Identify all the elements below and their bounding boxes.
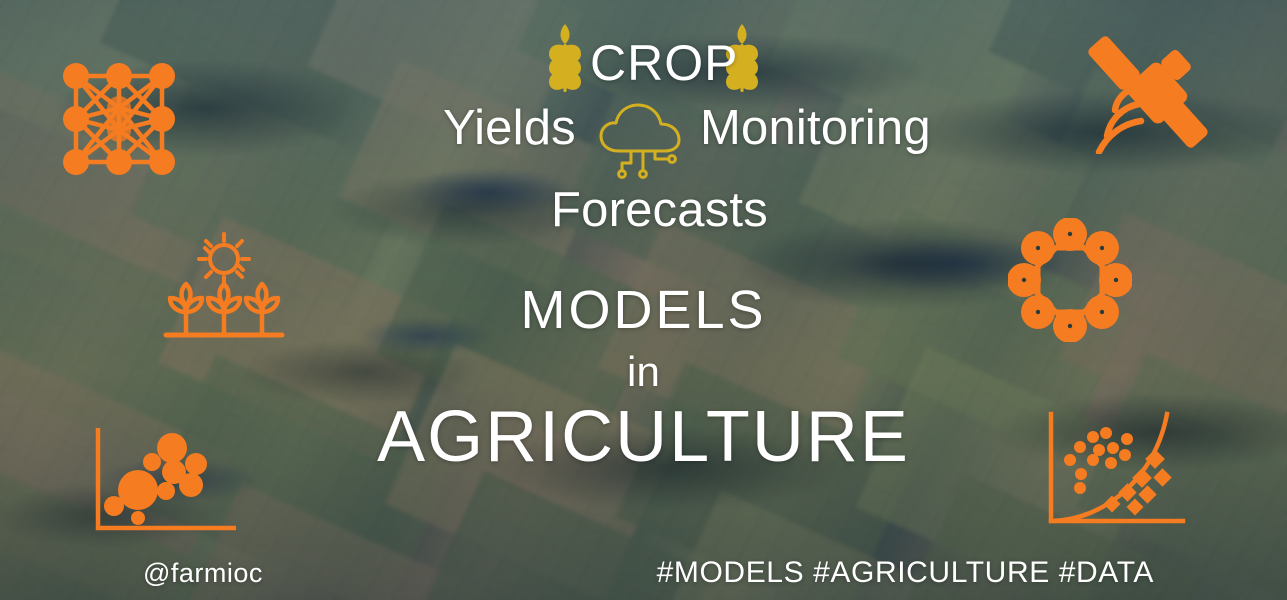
page-title-line-in: in bbox=[0, 348, 1287, 396]
wheat-stalk-icon bbox=[545, 22, 585, 94]
keyword-forecasts: Forecasts bbox=[551, 182, 768, 238]
neural-network-icon bbox=[58, 58, 180, 180]
keyword-crop: CROP bbox=[590, 34, 738, 92]
keyword-monitoring: Monitoring bbox=[700, 100, 931, 156]
cloud-iot-icon bbox=[597, 101, 689, 179]
poster-canvas: CROP Yields Monitoring Forecasts MODELS … bbox=[0, 0, 1287, 600]
social-handle: @farmioc bbox=[143, 558, 263, 589]
keyword-yields: Yields bbox=[443, 100, 576, 156]
page-title-line-models: MODELS bbox=[0, 279, 1287, 341]
page-title-line-agriculture: AGRICULTURE bbox=[0, 396, 1287, 478]
hashtag-list: #MODELS #AGRICULTURE #DATA bbox=[657, 556, 1154, 590]
satellite-icon bbox=[1083, 32, 1213, 154]
